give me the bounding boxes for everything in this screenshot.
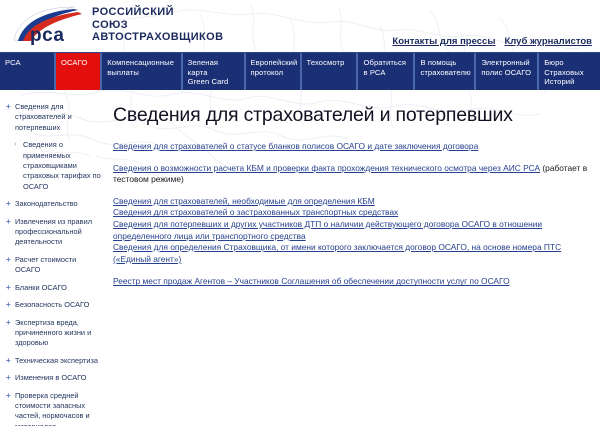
- nav-item-policyholder-help[interactable]: В помощь страхователю: [415, 53, 474, 90]
- nav-item-policyholder-help-label2: страхователю: [420, 68, 470, 78]
- chevron-right-icon: ›: [14, 140, 16, 150]
- link-insurer-by-pts[interactable]: Сведения для определения Страховщика, от…: [113, 242, 561, 264]
- nav-item-policyholder-help-label: В помощь: [420, 58, 456, 67]
- nav-item-osago[interactable]: ОСАГО: [56, 53, 100, 90]
- sidebar-item-osago-changes[interactable]: + Изменения в ОСАГО: [6, 373, 101, 383]
- nav-item-technical-inspection[interactable]: Техосмотр: [302, 53, 357, 90]
- sidebar-item-label: Техническая экспертиза: [15, 356, 101, 366]
- link-policy-blank-status[interactable]: Сведения для страхователей о статусе бла…: [113, 141, 478, 151]
- content-link-active-contract-check: Сведения для потерпевших и других участн…: [113, 219, 590, 242]
- content-link-kbm-determination: Сведения для страхователей, необходимые …: [113, 196, 590, 208]
- page-root: рса Российский Союз Автостраховщиков Кон…: [0, 0, 600, 426]
- nav-item-green-card-label2: Green Card: [188, 77, 240, 87]
- nav-item-european-protocol-label: Европейский: [251, 58, 298, 67]
- sidebar-item-legislation[interactable]: + Законодательство: [6, 199, 101, 209]
- nav-item-rsa[interactable]: РСА: [0, 53, 54, 90]
- nav-item-european-protocol[interactable]: Европейский протокол: [246, 53, 300, 90]
- plus-icon: +: [6, 217, 11, 227]
- logo-wordmark: рса: [30, 25, 64, 46]
- organization-name: Российский Союз Автостраховщиков: [92, 6, 223, 44]
- journalists-club-link[interactable]: Клуб журналистов: [504, 36, 592, 47]
- plus-icon: +: [6, 300, 11, 310]
- sidebar-item-label: Сведения для страхователей и потерпевших: [15, 102, 101, 133]
- nav-item-electronic-policy-label2: полис ОСАГО: [481, 68, 533, 78]
- nav-item-green-card-label: Зеленая карта: [188, 58, 218, 77]
- content-area: + Сведения для страхователей и потерпевш…: [0, 90, 600, 426]
- sidebar-item-insurance-tariffs[interactable]: › Сведения о применяемых страховщиками с…: [14, 140, 101, 192]
- sidebar-item-average-parts-cost-check[interactable]: + Проверка средней стоимости запасных ча…: [6, 391, 101, 426]
- rsa-logo[interactable]: рса: [8, 4, 86, 48]
- nav-item-contact-rsa-label: Обратиться: [363, 58, 406, 67]
- plus-icon: +: [6, 391, 11, 401]
- main-content: Сведения для страхователей и потерпевших…: [105, 90, 600, 426]
- nav-item-european-protocol-label2: протокол: [251, 68, 296, 78]
- org-name-line-3: Автостраховщиков: [92, 31, 223, 44]
- sidebar-item-technical-expertise[interactable]: + Техническая экспертиза: [6, 356, 101, 366]
- nav-item-contact-rsa-label2: в РСА: [363, 68, 409, 78]
- sidebar-item-osago-security[interactable]: + Безопасность ОСАГО: [6, 300, 101, 310]
- plus-icon: +: [6, 318, 11, 328]
- nav-item-electronic-policy[interactable]: Электронный полис ОСАГО: [476, 53, 537, 90]
- content-link-policy-blank-status: Сведения для страхователей о статусе бла…: [113, 141, 590, 153]
- nav-item-rsa-label: РСА: [5, 58, 21, 67]
- sidebar-item-label: Безопасность ОСАГО: [15, 300, 101, 310]
- sidebar-item-health-damage-expertise[interactable]: + Экспертиза вреда, причиненного жизни и…: [6, 318, 101, 349]
- nav-item-contact-rsa[interactable]: Обратиться в РСА: [358, 53, 413, 90]
- nav-item-compensation-payments-label: Компенсационные: [107, 58, 174, 67]
- org-name-line-2: Союз: [92, 19, 223, 32]
- sidebar-item-info-for-policyholders[interactable]: + Сведения для страхователей и потерпевш…: [6, 102, 101, 133]
- link-kbm-calculation[interactable]: Сведения о возможности расчета КБМ и про…: [113, 163, 540, 173]
- sidebar-item-label: Экспертиза вреда, причиненного жизни и з…: [15, 318, 101, 349]
- content-link-group: Сведения для страхователей, необходимые …: [113, 196, 590, 266]
- sidebar-navigation: + Сведения для страхователей и потерпевш…: [0, 90, 105, 426]
- press-contacts-link[interactable]: Контакты для прессы: [392, 36, 495, 47]
- nav-item-insurance-history-bureau-label2: Историй: [544, 77, 596, 87]
- nav-item-compensation-payments-label2: выплаты: [107, 68, 176, 78]
- sidebar-item-osago-forms[interactable]: + Бланки ОСАГО: [6, 283, 101, 293]
- nav-item-insurance-history-bureau[interactable]: Бюро Страховых Историй: [539, 53, 600, 90]
- sidebar-item-label: Расчет стоимости ОСАГО: [15, 255, 101, 276]
- nav-item-electronic-policy-label: Электронный: [481, 58, 529, 67]
- plus-icon: +: [6, 373, 11, 383]
- content-link-insurer-by-pts: Сведения для определения Страховщика, от…: [113, 242, 590, 265]
- nav-item-green-card[interactable]: Зеленая карта Green Card: [183, 53, 244, 90]
- main-navigation: РСА ОСАГО Компенсационные выплаты Зелена…: [0, 52, 600, 90]
- sidebar-item-label: Проверка средней стоимости запасных част…: [15, 391, 101, 426]
- nav-item-insurance-history-bureau-label: Бюро Страховых: [544, 58, 584, 77]
- nav-item-technical-inspection-label: Техосмотр: [307, 58, 345, 67]
- plus-icon: +: [6, 356, 11, 366]
- plus-icon: +: [6, 102, 11, 112]
- plus-icon: +: [6, 283, 11, 293]
- nav-item-osago-label: ОСАГО: [61, 58, 87, 67]
- sidebar-item-professional-rules[interactable]: + Извлечения из правил профессиональной …: [6, 217, 101, 248]
- content-link-insured-vehicles: Сведения для страхователей о застрахован…: [113, 207, 590, 219]
- link-kbm-determination[interactable]: Сведения для страхователей, необходимые …: [113, 196, 375, 206]
- page-title: Сведения для страхователей и потерпевших: [113, 104, 590, 127]
- sidebar-item-label: Изменения в ОСАГО: [15, 373, 101, 383]
- sidebar-item-osago-cost-calculation[interactable]: + Расчет стоимости ОСАГО: [6, 255, 101, 276]
- header-utility-links: Контакты для прессыКлуб журналистов: [383, 36, 592, 47]
- sidebar-item-label: Сведения о применяемых страховщиками стр…: [23, 140, 101, 191]
- plus-icon: +: [6, 199, 11, 209]
- sidebar-item-label: Законодательство: [15, 199, 101, 209]
- plus-icon: +: [6, 255, 11, 265]
- sidebar-item-label: Извлечения из правил профессиональной де…: [15, 217, 101, 248]
- link-agents-registry[interactable]: Реестр мест продаж Агентов – Участников …: [113, 276, 510, 286]
- sidebar-item-label: Бланки ОСАГО: [15, 283, 101, 293]
- content-link-kbm-calculation: Сведения о возможности расчета КБМ и про…: [113, 163, 590, 186]
- link-insured-vehicles[interactable]: Сведения для страхователей о застрахован…: [113, 207, 398, 217]
- content-link-agents-registry: Реестр мест продаж Агентов – Участников …: [113, 276, 590, 288]
- org-name-line-1: Российский: [92, 6, 223, 19]
- link-active-contract-check[interactable]: Сведения для потерпевших и других участн…: [113, 219, 542, 241]
- site-header: рса Российский Союз Автостраховщиков Кон…: [0, 0, 600, 52]
- nav-item-compensation-payments[interactable]: Компенсационные выплаты: [102, 53, 180, 90]
